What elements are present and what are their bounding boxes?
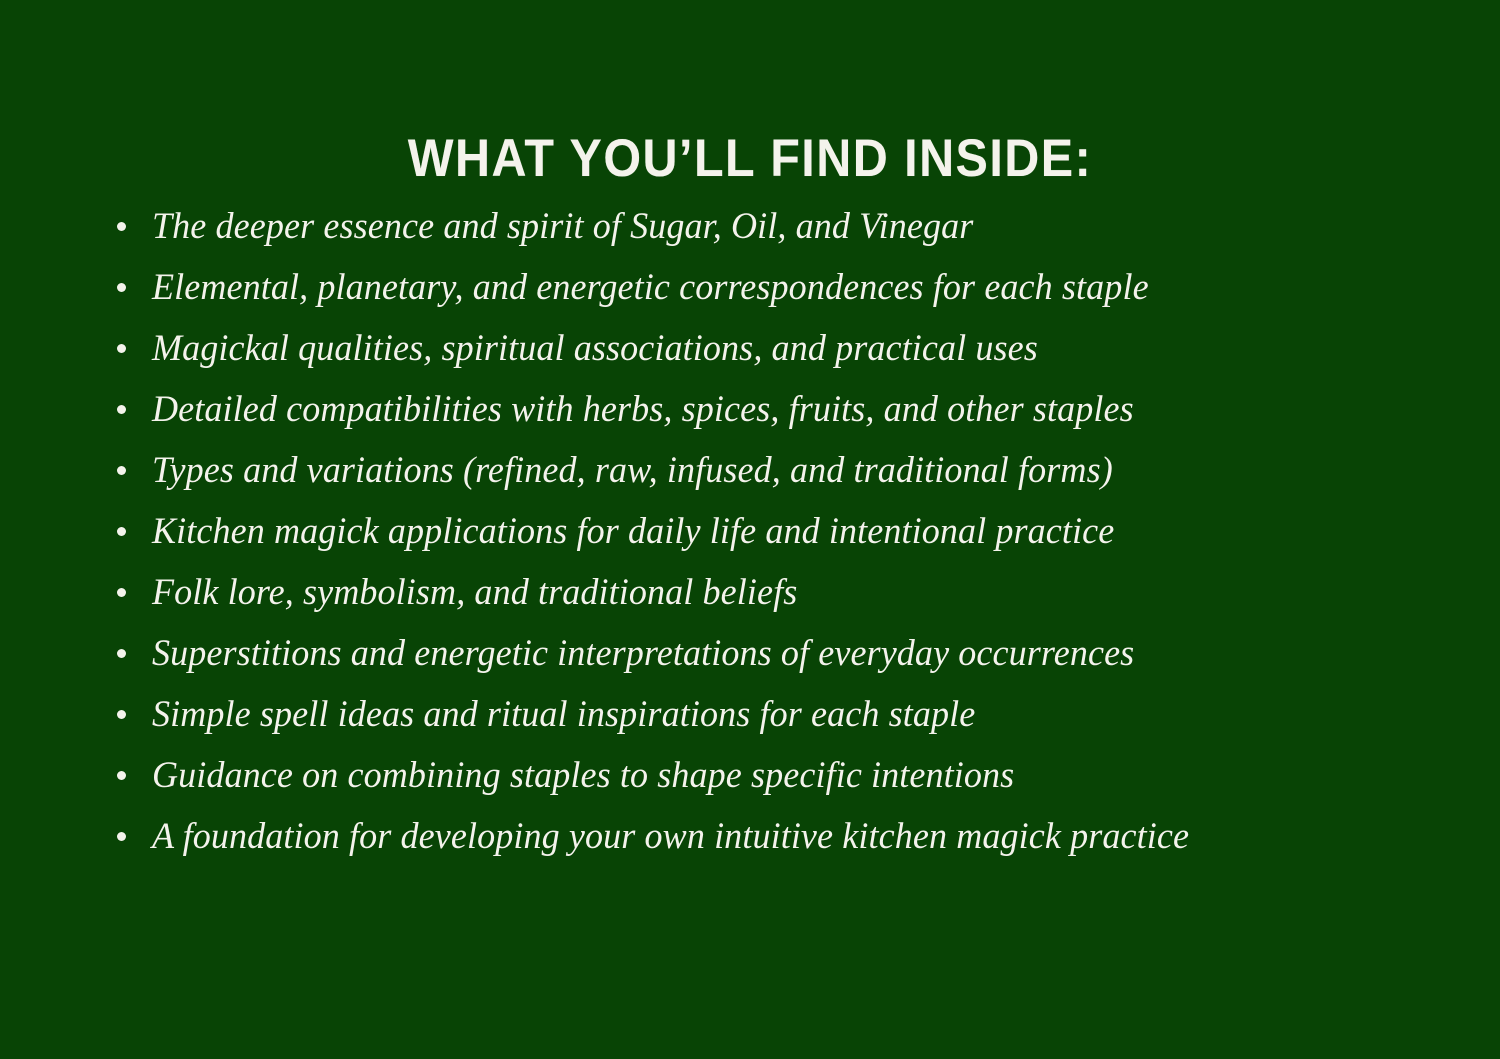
list-item-label: Detailed compatibilities with herbs, spi… xyxy=(152,391,1134,428)
list-item-label: The deeper essence and spirit of Sugar, … xyxy=(152,208,973,245)
list-item-label: Elemental, planetary, and energetic corr… xyxy=(152,269,1149,306)
list-item: Folk lore, symbolism, and traditional be… xyxy=(112,562,1412,623)
bullet-icon xyxy=(117,527,126,536)
bullet-icon xyxy=(117,710,126,719)
list-item-label: Folk lore, symbolism, and traditional be… xyxy=(152,574,797,611)
bullet-icon xyxy=(117,771,126,780)
page-title: WHAT YOU’LL FIND INSIDE: xyxy=(408,132,1092,186)
list-item-label: Kitchen magick applications for daily li… xyxy=(152,513,1114,550)
bullet-icon xyxy=(117,466,126,475)
list-item-label: A foundation for developing your own int… xyxy=(152,818,1189,855)
list-item-label: Guidance on combining staples to shape s… xyxy=(152,757,1014,794)
bullet-icon xyxy=(117,283,126,292)
bullet-icon xyxy=(117,405,126,414)
list-item-label: Types and variations (refined, raw, infu… xyxy=(152,452,1113,489)
bullet-icon xyxy=(117,588,126,597)
slide-canvas: WHAT YOU’LL FIND INSIDE: The deeper esse… xyxy=(0,0,1500,1059)
list-item-label: Superstitions and energetic interpretati… xyxy=(152,635,1134,672)
features-list: The deeper essence and spirit of Sugar, … xyxy=(112,196,1412,867)
list-item-label: Simple spell ideas and ritual inspiratio… xyxy=(152,696,975,733)
bullet-icon xyxy=(117,649,126,658)
bullet-icon xyxy=(117,344,126,353)
list-item-label: Magickal qualities, spiritual associatio… xyxy=(152,330,1038,367)
list-item: Detailed compatibilities with herbs, spi… xyxy=(112,379,1412,440)
list-item: Guidance on combining staples to shape s… xyxy=(112,745,1412,806)
list-item: Simple spell ideas and ritual inspiratio… xyxy=(112,684,1412,745)
bullet-icon xyxy=(117,222,126,231)
list-item: The deeper essence and spirit of Sugar, … xyxy=(112,196,1412,257)
bullet-icon xyxy=(117,832,126,841)
list-item: Elemental, planetary, and energetic corr… xyxy=(112,257,1412,318)
list-item: A foundation for developing your own int… xyxy=(112,806,1412,867)
list-item: Superstitions and energetic interpretati… xyxy=(112,623,1412,684)
list-item: Types and variations (refined, raw, infu… xyxy=(112,440,1412,501)
list-item: Kitchen magick applications for daily li… xyxy=(112,501,1412,562)
list-item: Magickal qualities, spiritual associatio… xyxy=(112,318,1412,379)
